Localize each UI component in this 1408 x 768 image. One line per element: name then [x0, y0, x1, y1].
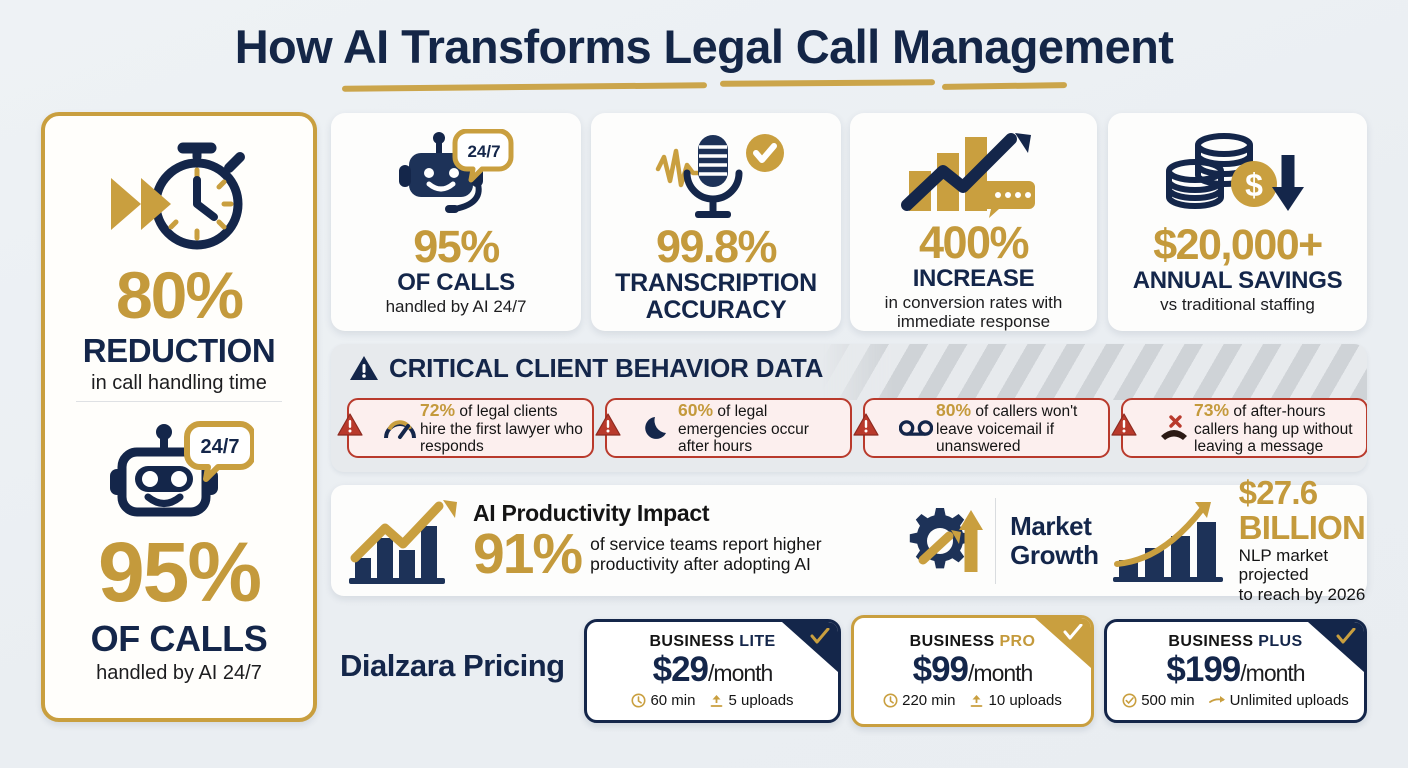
plan-price: $29/month — [653, 652, 773, 689]
plan-price: $199/month — [1166, 652, 1304, 689]
microphone-waveform-check-icon — [640, 127, 792, 223]
upload-icon — [969, 693, 984, 708]
market-growth-value: $27.6 BILLION — [1239, 476, 1367, 545]
robot-headset-icon: 24/7 — [387, 127, 525, 223]
stat-value: $20,000+ — [1153, 223, 1322, 268]
productivity-value: 91% — [473, 527, 581, 582]
stat-value: 400% — [919, 219, 1028, 266]
plan-uploads: 10 uploads — [969, 692, 1061, 709]
stat-heading: ANNUAL SAVINGS — [1133, 268, 1343, 293]
gauge-icon — [383, 411, 417, 445]
arrow-right-icon — [1209, 694, 1226, 707]
coins-dollar-down-arrow-icon: $ — [1162, 127, 1314, 223]
behavior-pill: 72% of legal clients hire the first lawy… — [347, 398, 594, 458]
productivity-band: AI Productivity Impact 91% of service te… — [331, 485, 1367, 596]
hero-calls-label: OF CALLS — [91, 618, 268, 660]
plan-minutes: 500 min — [1122, 692, 1194, 709]
stat-subtext: vs traditional staffing — [1160, 295, 1315, 315]
check-icon — [810, 628, 830, 644]
svg-text:$: $ — [1245, 167, 1263, 203]
check-circle-icon — [1122, 693, 1137, 708]
hazard-stripes — [822, 344, 1367, 400]
bar-chart-arrow-icon — [347, 496, 469, 586]
stat-heading: OF CALLS — [397, 270, 515, 295]
band-header: CRITICAL CLIENT BEHAVIOR DATA — [349, 353, 823, 384]
warning-triangle-icon — [853, 413, 879, 437]
behavior-pill: 60% of legal emergencies occur after hou… — [605, 398, 852, 458]
hero-reduction-label: REDUCTION — [83, 332, 276, 370]
pill-text: 60% of legal emergencies occur after hou… — [678, 400, 844, 457]
hero-calls-value: 95% — [98, 530, 260, 614]
pricing-heading: Dialzara Pricing — [340, 648, 565, 684]
plan-features: 220 min 10 uploads — [883, 692, 1062, 709]
stat-value: 99.8% — [656, 223, 776, 270]
stat-value: 95% — [413, 223, 499, 270]
market-growth-label: Market Growth — [1010, 512, 1099, 568]
hero-calls-sub: handled by AI 24/7 — [96, 662, 262, 685]
stat-subtext: in conversion rates with immediate respo… — [850, 293, 1097, 332]
market-growth-section: Market Growth $27.6 BILLION — [1010, 476, 1367, 604]
behavior-pill: 73% of after-hours callers hang up witho… — [1121, 398, 1367, 458]
plan-tier: PLUS — [1258, 633, 1302, 650]
plan-features: 60 min 5 uploads — [631, 692, 793, 709]
check-icon — [1063, 624, 1083, 640]
market-bars-curve-icon — [1111, 498, 1227, 584]
market-growth-sub-line2: to reach by 2026 — [1239, 585, 1367, 605]
pill-text: 72% of legal clients hire the first lawy… — [420, 400, 586, 457]
clock-icon — [631, 693, 646, 708]
hero-card: 80% REDUCTION in call handling time — [41, 112, 317, 722]
plan-tier: PRO — [999, 633, 1035, 650]
title-underline — [342, 79, 1067, 92]
band-title: CRITICAL CLIENT BEHAVIOR DATA — [389, 353, 823, 384]
plan-tier: LITE — [739, 633, 775, 650]
plan-uploads: Unlimited uploads — [1209, 692, 1349, 709]
check-ribbon-navy — [1308, 622, 1364, 672]
hero-calls-block: 24/7 95% OF CALLS handled by AI 24/7 — [45, 402, 313, 685]
moon-icon — [641, 411, 675, 445]
pill-pct: 60% — [678, 400, 713, 420]
productivity-desc: of service teams report higher productiv… — [590, 534, 895, 575]
pricing-card-business-plus[interactable]: BUSINESS PLUS $199/month 500 min Unlimit… — [1104, 619, 1367, 723]
pricing-card-business-pro[interactable]: BUSINESS PRO $99/month 220 min 10 upload… — [851, 615, 1094, 727]
behavior-pill: 80% of callers won't leave voicemail if … — [863, 398, 1110, 458]
critical-behavior-band: CRITICAL CLIENT BEHAVIOR DATA — [331, 344, 1367, 472]
pill-pct: 80% — [936, 400, 971, 420]
page-title-block: How AI Transforms Legal Call Management — [0, 22, 1408, 92]
page-title: How AI Transforms Legal Call Management — [0, 22, 1408, 71]
productivity-text: AI Productivity Impact 91% of service te… — [473, 500, 895, 582]
plan-features: 500 min Unlimited uploads — [1122, 692, 1349, 709]
warning-triangle-icon — [337, 413, 363, 437]
stat-card-calls-handled: 24/7 95% OF CALLS handled by AI 24/7 — [331, 113, 581, 331]
svg-text:24/7: 24/7 — [201, 436, 240, 458]
check-icon — [1336, 628, 1356, 644]
plan-name: BUSINESS PLUS — [1168, 633, 1302, 651]
market-growth-text: $27.6 BILLION NLP market projected to re… — [1239, 476, 1367, 604]
stat-heading: INCREASE — [913, 266, 1035, 291]
pill-text: 73% of after-hours callers hang up witho… — [1194, 400, 1360, 457]
stat-heading: TRANSCRIPTION — [615, 270, 817, 297]
infographic-page: How AI Transforms Legal Call Management — [0, 0, 1408, 768]
robot-24-7-icon: 24/7 — [104, 416, 254, 528]
warning-triangle-icon — [595, 413, 621, 437]
stat-heading-line2: ACCURACY — [646, 297, 787, 324]
hero-reduction-value: 80% — [116, 262, 242, 328]
plan-uploads: 5 uploads — [709, 692, 793, 709]
voicemail-icon — [899, 411, 933, 445]
stat-subtext: handled by AI 24/7 — [386, 297, 527, 317]
plan-price: $99/month — [913, 652, 1033, 689]
pill-pct: 73% — [1194, 400, 1229, 420]
section-divider — [995, 498, 996, 584]
stopwatch-fastforward-icon — [93, 138, 265, 256]
growth-chart-arrow-icon — [899, 127, 1049, 219]
plan-name: BUSINESS PRO — [910, 633, 1036, 651]
pill-pct: 72% — [420, 400, 455, 420]
clock-icon — [883, 693, 898, 708]
gear-arrow-up-icon — [905, 502, 985, 580]
plan-minutes: 220 min — [883, 692, 955, 709]
upload-icon — [709, 693, 724, 708]
pricing-card-business-lite[interactable]: BUSINESS LITE $29/month 60 min 5 uploads — [584, 619, 841, 723]
svg-text:24/7: 24/7 — [467, 142, 500, 161]
plan-minutes: 60 min — [631, 692, 695, 709]
warning-triangle-icon — [1111, 413, 1137, 437]
productivity-section: AI Productivity Impact 91% of service te… — [331, 496, 985, 586]
check-ribbon-gold — [1035, 618, 1091, 668]
stat-card-savings: $ $20,000+ ANNUAL SAVINGS vs traditional… — [1108, 113, 1367, 331]
phone-hangup-icon — [1157, 411, 1191, 445]
plan-name: BUSINESS LITE — [649, 633, 775, 651]
warning-triangle-icon — [349, 355, 379, 382]
hero-reduction-block: 80% REDUCTION in call handling time — [45, 116, 313, 395]
check-ribbon-navy — [782, 622, 838, 672]
hero-reduction-sub: in call handling time — [91, 372, 267, 395]
stat-card-transcription: 99.8% TRANSCRIPTION ACCURACY — [591, 113, 841, 331]
productivity-row: 91% of service teams report higher produ… — [473, 527, 895, 582]
market-growth-sub-line1: NLP market projected — [1239, 546, 1367, 585]
pill-text: 80% of callers won't leave voicemail if … — [936, 400, 1102, 457]
stat-card-conversion: 400% INCREASE in conversion rates with i… — [850, 113, 1097, 331]
behavior-pill-list: 72% of legal clients hire the first lawy… — [347, 398, 1367, 458]
